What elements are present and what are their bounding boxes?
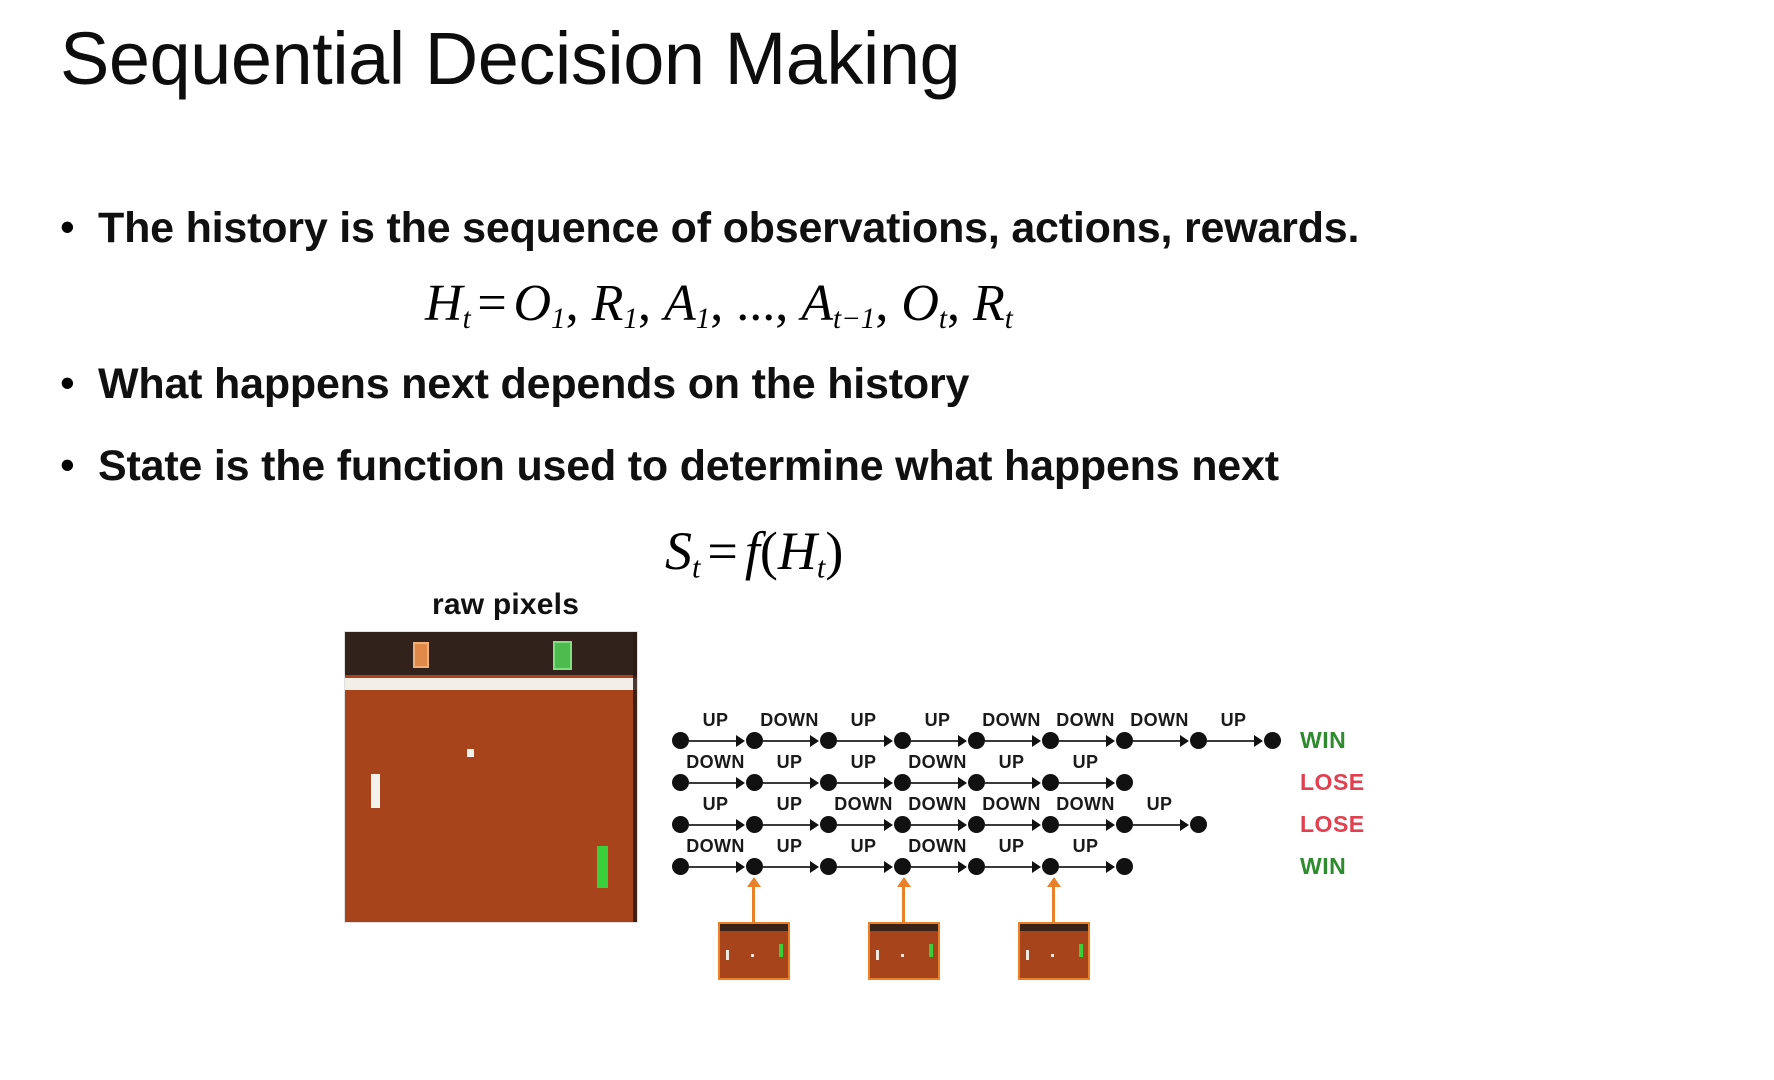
action-label-up: UP bbox=[1147, 794, 1173, 815]
thumb-paddle-right bbox=[1079, 944, 1083, 957]
sequence-arrow-icon bbox=[958, 861, 967, 873]
action-label-down: DOWN bbox=[686, 752, 745, 773]
action-label-up: UP bbox=[1221, 710, 1247, 731]
bullet-marker-icon: • bbox=[60, 362, 82, 404]
bullet-text-1: The history is the sequence of observati… bbox=[98, 206, 1359, 251]
outcome-label-lose: LOSE bbox=[1300, 811, 1365, 838]
sequence-state-node bbox=[672, 732, 689, 749]
action-sequence-diagram: UPDOWNUPUPDOWNDOWNDOWNUPWINDOWNUPUPDOWNU… bbox=[660, 700, 1760, 1060]
sequence-state-node bbox=[746, 774, 763, 791]
slide-title: Sequential Decision Making bbox=[60, 22, 960, 96]
bullet-text-3: State is the function used to determine … bbox=[98, 444, 1279, 489]
action-label-down: DOWN bbox=[1056, 710, 1115, 731]
sequence-state-node bbox=[1190, 732, 1207, 749]
pong-scoreboard-band bbox=[345, 632, 637, 675]
observation-arrow-icon bbox=[1052, 886, 1055, 922]
observation-arrow-icon bbox=[902, 886, 905, 922]
sequence-transition-edge bbox=[689, 782, 737, 784]
sequence-transition-edge bbox=[985, 866, 1033, 868]
action-label-down: DOWN bbox=[834, 794, 893, 815]
action-label-up: UP bbox=[703, 710, 729, 731]
sequence-arrow-icon bbox=[1032, 861, 1041, 873]
sequence-arrow-icon bbox=[958, 819, 967, 831]
thumb-paddle-left bbox=[1026, 950, 1029, 960]
sequence-state-node bbox=[672, 816, 689, 833]
sequence-state-node bbox=[820, 816, 837, 833]
sequence-arrow-icon bbox=[1254, 735, 1263, 747]
sequence-state-node bbox=[1116, 732, 1133, 749]
sequence-transition-edge bbox=[763, 782, 811, 784]
action-label-down: DOWN bbox=[1130, 710, 1189, 731]
sequence-transition-edge bbox=[763, 866, 811, 868]
pong-game-frame bbox=[345, 632, 637, 922]
pong-right-edge bbox=[633, 632, 637, 922]
sequence-arrow-icon bbox=[1180, 819, 1189, 831]
observation-arrow-head-icon bbox=[1047, 877, 1061, 887]
pong-divider-bar bbox=[345, 678, 637, 690]
bullet-item-3: • State is the function used to determin… bbox=[60, 444, 1279, 489]
outcome-label-lose: LOSE bbox=[1300, 769, 1365, 796]
sequence-arrow-icon bbox=[958, 735, 967, 747]
sequence-state-node bbox=[1042, 816, 1059, 833]
bullet-marker-icon: • bbox=[60, 444, 82, 486]
thumb-ball bbox=[1051, 954, 1054, 957]
action-label-up: UP bbox=[703, 794, 729, 815]
action-label-up: UP bbox=[777, 836, 803, 857]
sequence-transition-edge bbox=[1059, 782, 1107, 784]
pong-paddle-left bbox=[371, 774, 380, 808]
sequence-state-node bbox=[894, 858, 911, 875]
sequence-state-node bbox=[672, 774, 689, 791]
sequence-arrow-icon bbox=[1180, 735, 1189, 747]
sequence-arrow-icon bbox=[958, 777, 967, 789]
sequence-arrow-icon bbox=[1032, 735, 1041, 747]
sequence-arrow-icon bbox=[1106, 819, 1115, 831]
sequence-state-node bbox=[968, 858, 985, 875]
formula-history-glyphs: Ht=O1, R1, A1, ..., At−1, Ot, Rt bbox=[425, 275, 1013, 332]
sequence-transition-edge bbox=[985, 824, 1033, 826]
formula-state: St=f(Ht) bbox=[665, 520, 843, 585]
thumb-paddle-left bbox=[726, 950, 729, 960]
pong-score-left bbox=[413, 642, 429, 668]
formula-state-glyphs: St=f(Ht) bbox=[665, 521, 843, 581]
sequence-transition-edge bbox=[837, 740, 885, 742]
bullet-item-2: • What happens next depends on the histo… bbox=[60, 362, 969, 407]
action-label-down: DOWN bbox=[982, 794, 1041, 815]
thumb-ball bbox=[751, 954, 754, 957]
sequence-arrow-icon bbox=[1032, 819, 1041, 831]
observation-arrow-icon bbox=[752, 886, 755, 922]
sequence-state-node bbox=[968, 816, 985, 833]
bullet-item-1: • The history is the sequence of observa… bbox=[60, 206, 1359, 251]
thumb-paddle-left bbox=[876, 950, 879, 960]
outcome-label-win: WIN bbox=[1300, 853, 1346, 880]
action-label-up: UP bbox=[851, 836, 877, 857]
sequence-transition-edge bbox=[1059, 866, 1107, 868]
sequence-arrow-icon bbox=[810, 819, 819, 831]
sequence-transition-edge bbox=[689, 740, 737, 742]
sequence-state-node bbox=[894, 774, 911, 791]
sequence-transition-edge bbox=[689, 866, 737, 868]
pong-ball bbox=[467, 749, 474, 757]
formula-history: Ht=O1, R1, A1, ..., At−1, Ot, Rt bbox=[425, 274, 1013, 336]
sequence-transition-edge bbox=[1133, 740, 1181, 742]
sequence-arrow-icon bbox=[736, 819, 745, 831]
sequence-state-node bbox=[1042, 774, 1059, 791]
action-label-down: DOWN bbox=[1056, 794, 1115, 815]
raw-pixels-label: raw pixels bbox=[432, 588, 579, 622]
action-label-up: UP bbox=[851, 710, 877, 731]
sequence-transition-edge bbox=[1059, 824, 1107, 826]
sequence-arrow-icon bbox=[1106, 861, 1115, 873]
thumb-scoreboard-band bbox=[870, 924, 938, 931]
thumb-scoreboard-band bbox=[1020, 924, 1088, 931]
sequence-transition-edge bbox=[1207, 740, 1255, 742]
sequence-transition-edge bbox=[763, 824, 811, 826]
sequence-arrow-icon bbox=[1106, 777, 1115, 789]
observation-thumbnail bbox=[868, 922, 940, 980]
sequence-arrow-icon bbox=[884, 735, 893, 747]
sequence-transition-edge bbox=[911, 866, 959, 868]
action-label-up: UP bbox=[1073, 836, 1099, 857]
sequence-state-node bbox=[746, 732, 763, 749]
observation-thumbnail bbox=[1018, 922, 1090, 980]
observation-thumbnail bbox=[718, 922, 790, 980]
sequence-state-node bbox=[1042, 732, 1059, 749]
sequence-state-node bbox=[746, 858, 763, 875]
thumb-paddle-right bbox=[929, 944, 933, 957]
action-label-down: DOWN bbox=[982, 710, 1041, 731]
sequence-transition-edge bbox=[1133, 824, 1181, 826]
action-label-up: UP bbox=[1073, 752, 1099, 773]
sequence-state-node bbox=[1264, 732, 1281, 749]
action-label-up: UP bbox=[999, 836, 1025, 857]
action-label-down: DOWN bbox=[760, 710, 819, 731]
sequence-state-node bbox=[820, 858, 837, 875]
pong-paddle-right bbox=[597, 846, 608, 888]
sequence-state-node bbox=[1190, 816, 1207, 833]
sequence-arrow-icon bbox=[810, 777, 819, 789]
bullet-text-2: What happens next depends on the history bbox=[98, 362, 969, 407]
sequence-transition-edge bbox=[837, 824, 885, 826]
action-label-down: DOWN bbox=[686, 836, 745, 857]
sequence-transition-edge bbox=[985, 782, 1033, 784]
sequence-transition-edge bbox=[911, 824, 959, 826]
sequence-state-node bbox=[894, 732, 911, 749]
action-label-down: DOWN bbox=[908, 794, 967, 815]
sequence-transition-edge bbox=[837, 782, 885, 784]
sequence-state-node bbox=[1116, 816, 1133, 833]
outcome-label-win: WIN bbox=[1300, 727, 1346, 754]
sequence-arrow-icon bbox=[884, 861, 893, 873]
sequence-arrow-icon bbox=[1032, 777, 1041, 789]
sequence-transition-edge bbox=[689, 824, 737, 826]
action-label-down: DOWN bbox=[908, 836, 967, 857]
action-label-up: UP bbox=[777, 752, 803, 773]
sequence-state-node bbox=[894, 816, 911, 833]
sequence-state-node bbox=[1116, 858, 1133, 875]
sequence-arrow-icon bbox=[884, 777, 893, 789]
sequence-state-node bbox=[968, 732, 985, 749]
sequence-state-node bbox=[820, 732, 837, 749]
sequence-transition-edge bbox=[911, 740, 959, 742]
bullet-marker-icon: • bbox=[60, 206, 82, 248]
thumb-ball bbox=[901, 954, 904, 957]
sequence-arrow-icon bbox=[1106, 735, 1115, 747]
sequence-transition-edge bbox=[1059, 740, 1107, 742]
sequence-arrow-icon bbox=[810, 861, 819, 873]
sequence-transition-edge bbox=[763, 740, 811, 742]
sequence-state-node bbox=[672, 858, 689, 875]
action-label-up: UP bbox=[851, 752, 877, 773]
sequence-arrow-icon bbox=[736, 735, 745, 747]
observation-arrow-head-icon bbox=[897, 877, 911, 887]
action-label-up: UP bbox=[925, 710, 951, 731]
sequence-state-node bbox=[820, 774, 837, 791]
sequence-transition-edge bbox=[837, 866, 885, 868]
thumb-scoreboard-band bbox=[720, 924, 788, 931]
sequence-transition-edge bbox=[911, 782, 959, 784]
sequence-state-node bbox=[746, 816, 763, 833]
observation-arrow-head-icon bbox=[747, 877, 761, 887]
sequence-arrow-icon bbox=[810, 735, 819, 747]
sequence-state-node bbox=[1116, 774, 1133, 791]
thumb-paddle-right bbox=[779, 944, 783, 957]
sequence-transition-edge bbox=[985, 740, 1033, 742]
pong-score-right bbox=[553, 641, 572, 670]
sequence-state-node bbox=[968, 774, 985, 791]
action-label-up: UP bbox=[999, 752, 1025, 773]
sequence-arrow-icon bbox=[736, 777, 745, 789]
action-label-down: DOWN bbox=[908, 752, 967, 773]
sequence-arrow-icon bbox=[736, 861, 745, 873]
sequence-state-node bbox=[1042, 858, 1059, 875]
action-label-up: UP bbox=[777, 794, 803, 815]
sequence-arrow-icon bbox=[884, 819, 893, 831]
